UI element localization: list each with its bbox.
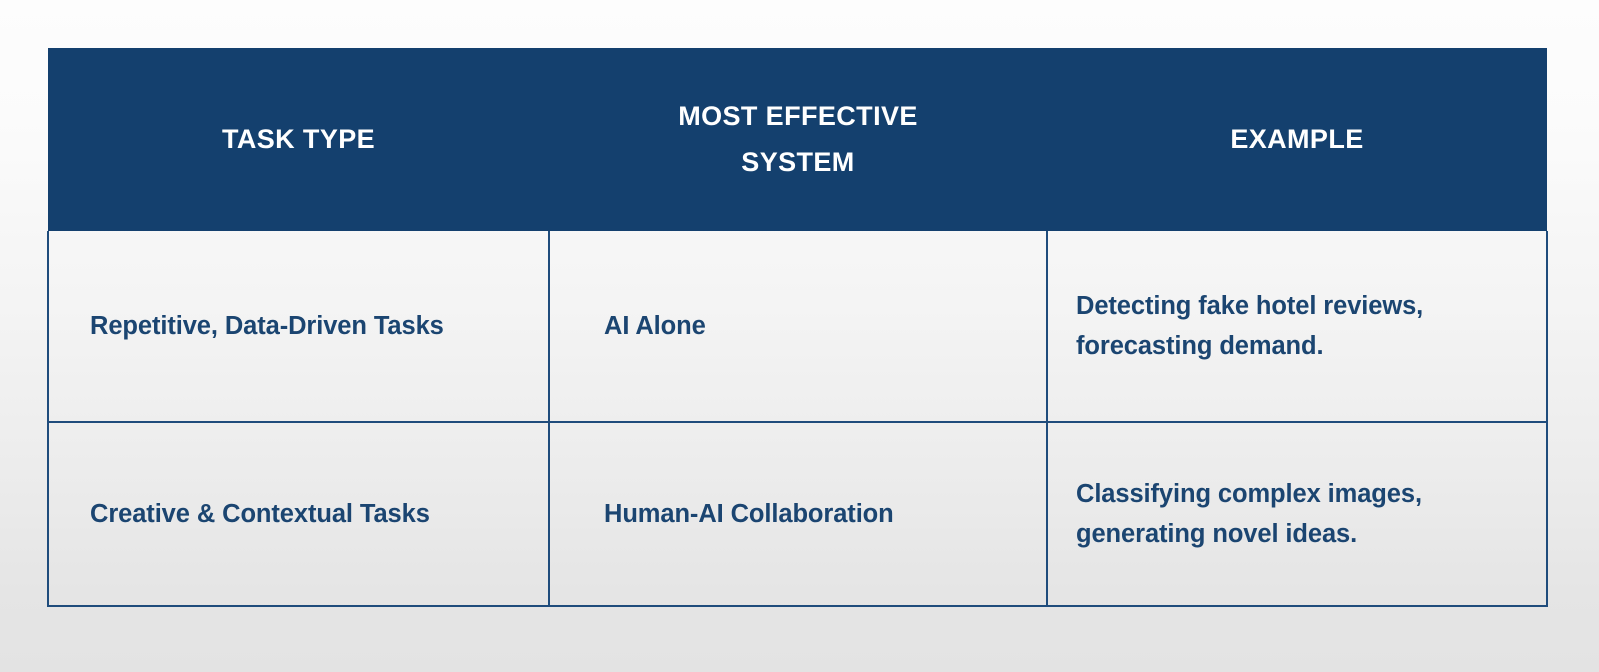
cell-task-type-row-1: Repetitive, Data-Driven Tasks bbox=[48, 231, 549, 422]
column-header-example-line-1: EXAMPLE bbox=[1059, 117, 1535, 162]
cell-example-row-2-line-1: Classifying complex images, bbox=[1076, 474, 1524, 514]
cell-task-type-row-1-text: Repetitive, Data-Driven Tasks bbox=[71, 306, 526, 346]
table-header: TASK TYPE MOST EFFECTIVE SYSTEM EXAMPLE bbox=[48, 48, 1547, 231]
cell-example-row-2: Classifying complex images, generating n… bbox=[1047, 422, 1547, 606]
cell-example-row-1-line-2: forecasting demand. bbox=[1076, 326, 1524, 366]
cell-system-row-1-text: AI Alone bbox=[572, 306, 1024, 346]
slide-canvas: TASK TYPE MOST EFFECTIVE SYSTEM EXAMPLE bbox=[0, 0, 1599, 672]
table-header-row: TASK TYPE MOST EFFECTIVE SYSTEM EXAMPLE bbox=[48, 48, 1547, 231]
table-body: Repetitive, Data-Driven Tasks AI Alone D… bbox=[48, 231, 1547, 606]
column-header-example: EXAMPLE bbox=[1047, 48, 1547, 231]
table-row: Creative & Contextual Tasks Human-AI Col… bbox=[48, 422, 1547, 606]
column-header-task-type-line-1: TASK TYPE bbox=[60, 117, 537, 162]
column-header-most-effective-system-text: MOST EFFECTIVE SYSTEM bbox=[549, 94, 1047, 185]
cell-example-row-1: Detecting fake hotel reviews, forecastin… bbox=[1047, 231, 1547, 422]
column-header-task-type-text: TASK TYPE bbox=[48, 117, 549, 162]
comparison-table-container: TASK TYPE MOST EFFECTIVE SYSTEM EXAMPLE bbox=[47, 48, 1546, 603]
cell-example-row-1-line-1: Detecting fake hotel reviews, bbox=[1076, 286, 1524, 326]
cell-system-row-2: Human-AI Collaboration bbox=[549, 422, 1047, 606]
cell-system-row-1: AI Alone bbox=[549, 231, 1047, 422]
cell-example-row-2-line-2: generating novel ideas. bbox=[1076, 514, 1524, 554]
comparison-table: TASK TYPE MOST EFFECTIVE SYSTEM EXAMPLE bbox=[47, 48, 1548, 607]
cell-system-row-2-text: Human-AI Collaboration bbox=[572, 494, 1024, 534]
table-row: Repetitive, Data-Driven Tasks AI Alone D… bbox=[48, 231, 1547, 422]
column-header-most-effective-system: MOST EFFECTIVE SYSTEM bbox=[549, 48, 1047, 231]
cell-task-type-row-2: Creative & Contextual Tasks bbox=[48, 422, 549, 606]
cell-example-row-1-text: Detecting fake hotel reviews, forecastin… bbox=[1070, 286, 1524, 367]
column-header-most-effective-system-line-1: MOST EFFECTIVE bbox=[561, 94, 1035, 139]
column-header-example-text: EXAMPLE bbox=[1047, 117, 1547, 162]
column-header-task-type: TASK TYPE bbox=[48, 48, 549, 231]
cell-example-row-2-text: Classifying complex images, generating n… bbox=[1070, 474, 1524, 555]
cell-task-type-row-2-text: Creative & Contextual Tasks bbox=[71, 494, 526, 534]
column-header-most-effective-system-line-2: SYSTEM bbox=[561, 140, 1035, 185]
